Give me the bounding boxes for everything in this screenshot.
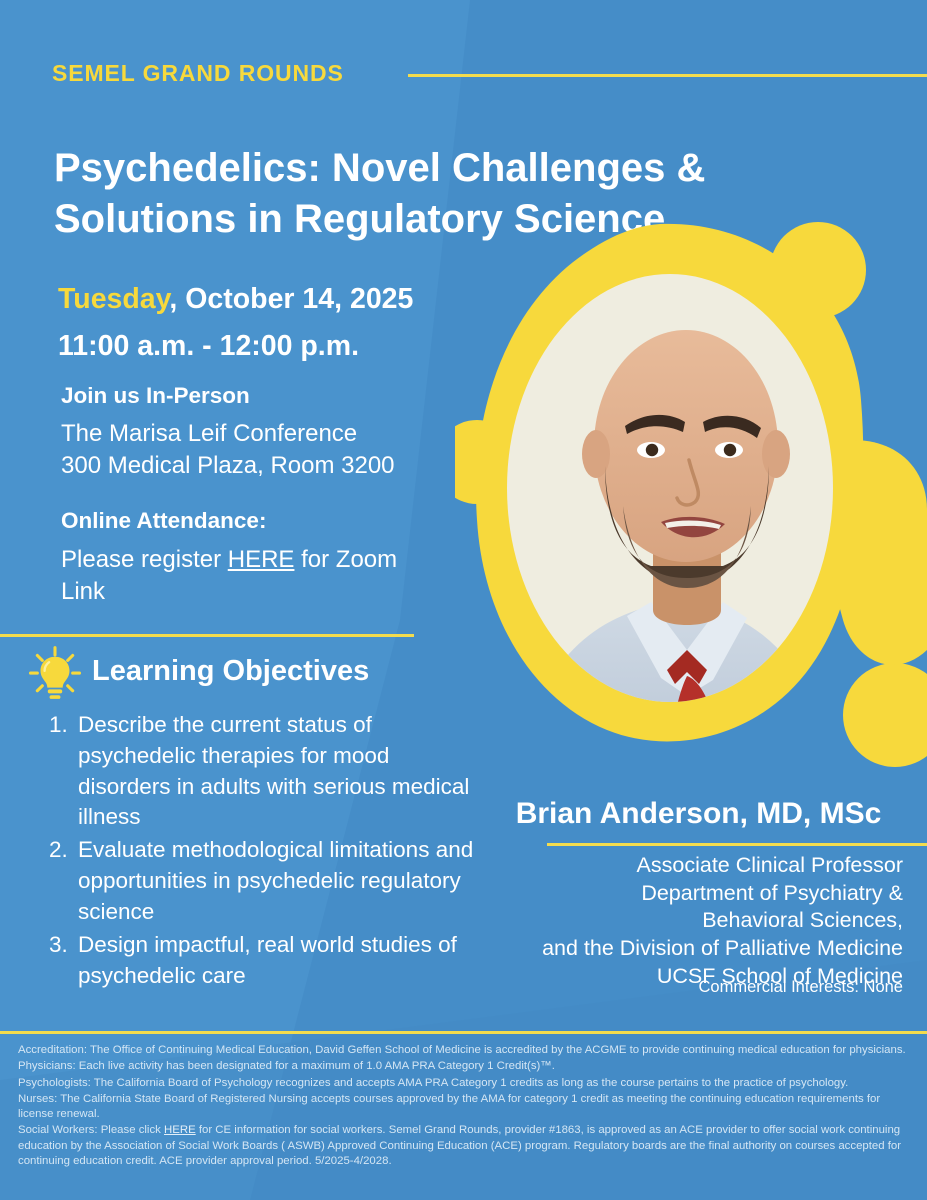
lightbulb-icon: [26, 645, 84, 703]
objectives-list: Describe the current status of psychedel…: [38, 710, 486, 993]
social-workers-here-link[interactable]: HERE: [164, 1124, 196, 1136]
register-here-link[interactable]: HERE: [228, 546, 295, 573]
footer-physicians: Physicians: Each live activity has been …: [18, 1059, 916, 1074]
series-label: SEMEL GRAND ROUNDS: [52, 60, 344, 87]
objectives-title: Learning Objectives: [92, 655, 369, 688]
online-attendance-heading: Online Attendance:: [61, 508, 266, 534]
footer-nurses: Nurses: The California State Board of Re…: [18, 1092, 916, 1123]
speaker-portrait-group: [455, 210, 927, 770]
online-registration-text: Please register HERE for Zoom Link: [61, 544, 436, 608]
event-flyer: SEMEL GRAND ROUNDS Psychedelics: Novel C…: [0, 0, 927, 1200]
event-date-rest: , October 14, 2025: [169, 283, 413, 315]
objectives-divider-rule: [0, 634, 414, 637]
affiliation-line: Department of Psychiatry &: [467, 880, 903, 908]
event-day-of-week: Tuesday: [58, 283, 169, 315]
avatar: [455, 210, 927, 770]
list-item: Evaluate methodological limitations and …: [74, 835, 486, 927]
speaker-affiliation: Associate Clinical Professor Department …: [467, 852, 927, 991]
accreditation-footer: Accreditation: The Office of Continuing …: [18, 1043, 916, 1170]
in-person-heading: Join us In-Person: [61, 383, 250, 409]
venue-name: The Marisa Leif Conference: [61, 418, 395, 450]
list-item: Describe the current status of psychedel…: [74, 710, 486, 833]
affiliation-line: and the Division of Palliative Medicine: [467, 935, 903, 963]
event-time: 11:00 a.m. - 12:00 p.m.: [58, 330, 359, 363]
affiliation-line: Behavioral Sciences,: [467, 907, 903, 935]
commercial-interests: Commercial Interests: None: [467, 978, 927, 997]
register-prefix: Please register: [61, 546, 228, 573]
footer-psychologists: Psychologists: The California Board of P…: [18, 1076, 916, 1091]
social-workers-prefix: Social Workers: Please click: [18, 1124, 164, 1136]
venue-address: 300 Medical Plaza, Room 3200: [61, 450, 395, 482]
list-item: Design impactful, real world studies of …: [74, 930, 486, 992]
footer-accreditation: Accreditation: The Office of Continuing …: [18, 1043, 916, 1058]
footer-divider-rule: [0, 1031, 927, 1034]
venue-block: The Marisa Leif Conference 300 Medical P…: [61, 418, 395, 482]
footer-social-workers: Social Workers: Please click HERE for CE…: [18, 1123, 916, 1169]
event-date: Tuesday, October 14, 2025: [58, 283, 413, 316]
affiliation-line: Associate Clinical Professor: [467, 852, 903, 880]
speaker-name: Brian Anderson, MD, MSc: [470, 797, 927, 831]
header-divider-rule: [408, 74, 927, 77]
speaker-divider-rule: [547, 843, 927, 846]
